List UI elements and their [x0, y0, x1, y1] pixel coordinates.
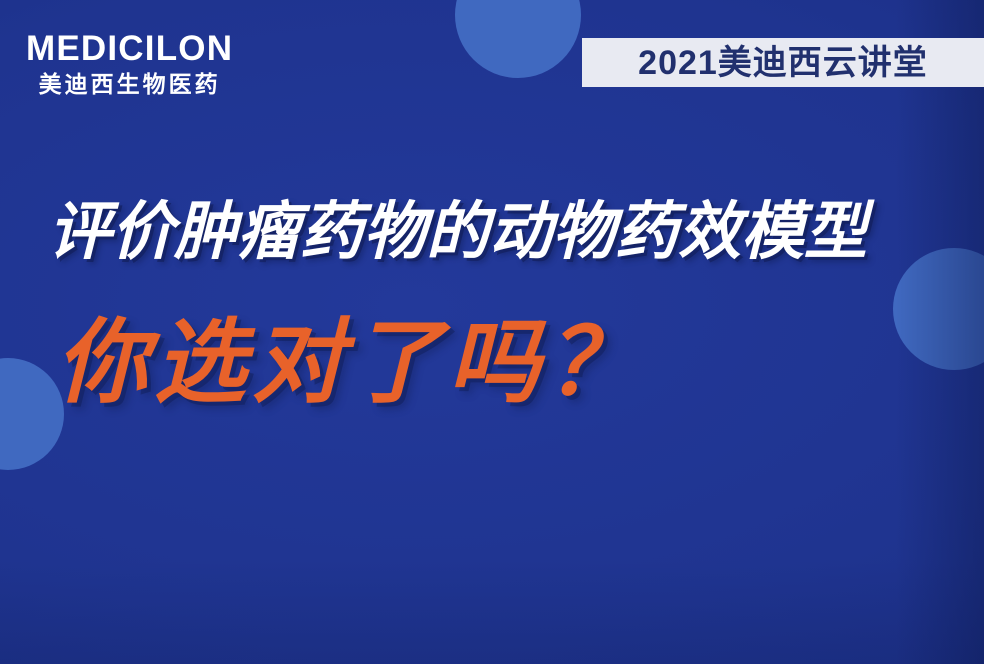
event-banner: 2021美迪西云讲堂: [582, 38, 984, 87]
logo-wordmark: MEDICILON: [26, 31, 233, 66]
medicilon-logo: MEDICILON 美迪西生物医药: [26, 31, 233, 96]
presentation-slide: MEDICILON 美迪西生物医药 2021美迪西云讲堂 评价肿瘤药物的动物药效…: [0, 0, 984, 664]
slide-subtitle: 你选对了吗？: [56, 315, 644, 413]
slide-title: 评价肿瘤药物的动物药效模型: [48, 198, 938, 266]
event-banner-label: 2021美迪西云讲堂: [638, 46, 928, 80]
logo-chinese-name: 美迪西生物医药: [26, 73, 233, 96]
